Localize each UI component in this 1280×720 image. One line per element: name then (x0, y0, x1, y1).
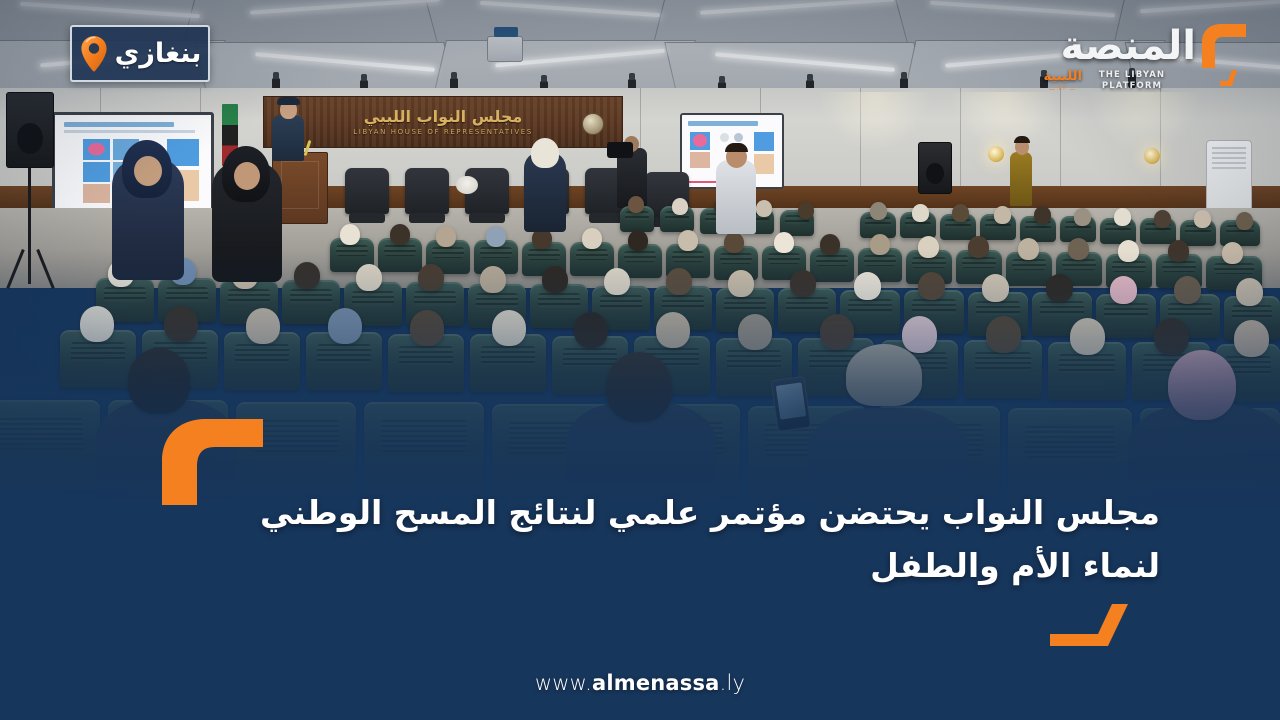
news-card: مجلس النواب الليبي LIBYAN HOUSE OF REPRE… (0, 0, 1280, 720)
logo-ly-mark: ـــ .LY ـــ (1050, 86, 1076, 92)
backdrop-arabic-title: مجلس النواب الليبي (364, 109, 523, 125)
url-prefix: www. (535, 671, 592, 695)
stage-backdrop: مجلس النواب الليبي LIBYAN HOUSE OF REPRE… (263, 96, 623, 148)
quote-close-icon (1048, 602, 1140, 658)
headline-line-1: مجلس النواب يحتضن مؤتمر علمي لنتائج المس… (170, 486, 1160, 539)
stage-chair (405, 168, 449, 214)
wall-sconce-icon (988, 146, 1004, 162)
pa-speaker (918, 142, 952, 194)
emblem-right-icon (582, 113, 604, 135)
backdrop-english-title: LIBYAN HOUSE OF REPRESENTATIVES (353, 129, 533, 136)
ceiling-projector (487, 36, 523, 62)
url-name: almenassa (592, 671, 720, 695)
url-tld: .ly (720, 671, 746, 695)
speaker-person (272, 115, 304, 161)
stage-chair (345, 168, 389, 214)
attendee-standing (716, 160, 756, 234)
logo-arabic-sub: الليبية (1044, 70, 1082, 83)
map-pin-icon (79, 35, 109, 73)
logo-arabic-wordmark: المنصة (1060, 26, 1196, 66)
standing-attendee (1010, 152, 1032, 206)
logo-english-text: THE LIBYAN PLATFORM (1084, 70, 1180, 93)
headline-line-2: لنماء الأم والطفل (170, 539, 1160, 592)
pa-speaker (6, 92, 54, 168)
location-label: بنغازي (115, 40, 202, 67)
wall-sconce-icon (1144, 148, 1160, 164)
site-logo[interactable]: المنصة THE LIBYAN PLATFORM الليبية ـــ .… (1028, 14, 1258, 100)
video-camera-icon (607, 142, 633, 158)
website-url[interactable]: www.almenassa.ly (0, 673, 1280, 694)
location-badge[interactable]: بنغازي (70, 25, 210, 82)
officer-cap (277, 97, 300, 105)
logo-bracket-small-icon (1218, 68, 1240, 88)
logo-bracket-icon (1196, 22, 1250, 70)
headline: مجلس النواب يحتضن مؤتمر علمي لنتائج المس… (170, 486, 1160, 593)
attendee-with-cap (846, 344, 922, 406)
flower-arrangement (456, 176, 478, 194)
